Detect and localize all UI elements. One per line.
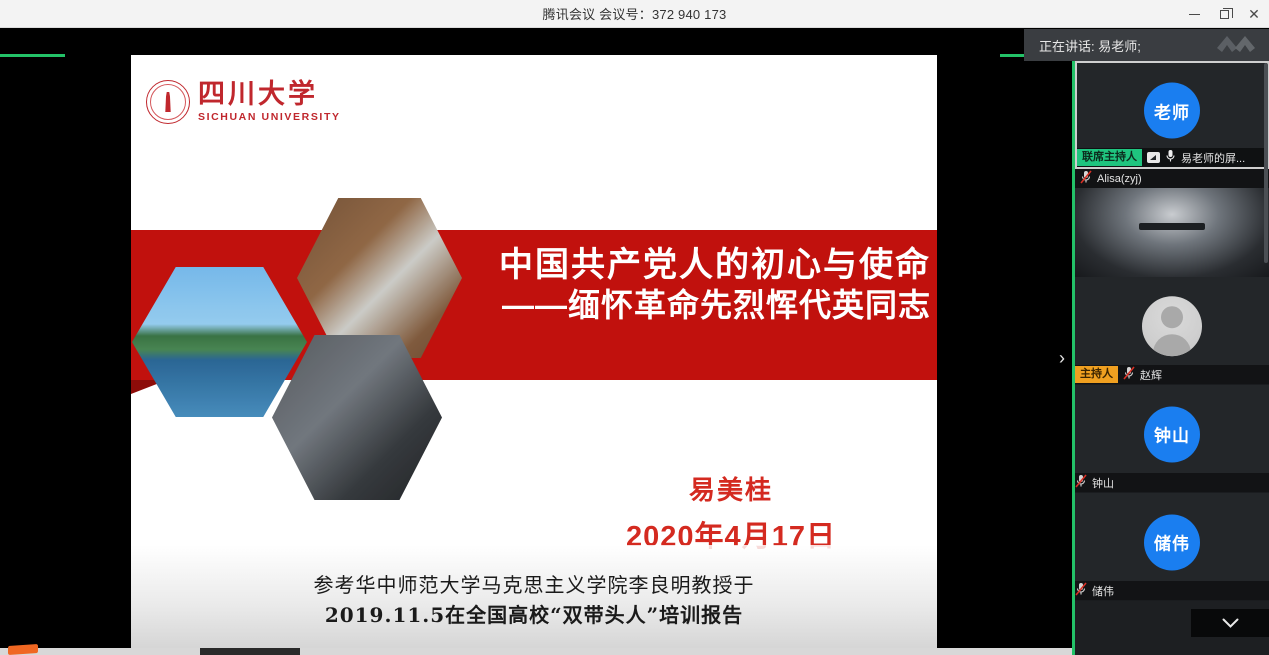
participant-footer-2: Alisa(zyj) — [1075, 169, 1269, 188]
minimize-button[interactable] — [1179, 0, 1209, 28]
participant-list[interactable]: 老师 联席主持人 易老师的屏... — [1075, 61, 1269, 655]
mic-on-icon — [1165, 149, 1176, 166]
university-name-cn: 四川大学 — [198, 81, 341, 109]
participant-name-3: 赵辉 — [1140, 367, 1162, 383]
avatar: 老师 — [1144, 83, 1200, 139]
slide-footer: 参考华中师范大学马克思主义学院李良明教授于 2019.11.5在全国高校“双带头… — [131, 570, 937, 630]
chevron-right-icon: › — [1059, 348, 1065, 369]
meeting-title: 腾讯会议 会议号：372 940 173 — [543, 4, 727, 23]
presentation-slide: 四川大学 SICHUAN UNIVERSITY 中国共产党人的初心与使命 ——缅… — [131, 55, 937, 655]
participant-rail: 老师 联席主持人 易老师的屏... — [1075, 29, 1269, 655]
avatar-body-icon — [1153, 334, 1191, 356]
scroll-down-button[interactable] — [1191, 609, 1269, 637]
cohost-badge: 联席主持人 — [1077, 149, 1142, 167]
participant-name-1: 易老师的屏... — [1181, 150, 1245, 166]
slide-title-line2: ——缅怀革命先烈恽代英同志 — [471, 286, 931, 325]
university-logo: 四川大学 SICHUAN UNIVERSITY — [146, 80, 341, 124]
participant-tile-4[interactable]: 钟山 钟山 — [1075, 385, 1269, 493]
participant-footer-5: 储伟 — [1075, 581, 1269, 600]
participant-tile-2[interactable]: Alisa(zyj) — [1075, 169, 1269, 277]
participant-footer-3: 主持人 赵辉 — [1075, 365, 1269, 384]
participant-tile-5[interactable]: 储伟 储伟 — [1075, 493, 1269, 601]
close-button[interactable]: ✕ — [1239, 0, 1269, 28]
mic-muted-icon — [1075, 474, 1087, 491]
mic-muted-icon — [1075, 582, 1087, 599]
slide-footer-line1: 参考华中师范大学马克思主义学院李良明教授于 — [131, 570, 937, 600]
university-logo-text: 四川大学 SICHUAN UNIVERSITY — [198, 81, 341, 123]
title-bar: 腾讯会议 会议号：372 940 173 ✕ — [0, 0, 1269, 28]
chevron-down-icon — [1222, 618, 1239, 629]
avatar: 储伟 — [1144, 514, 1200, 570]
participant-tile-3[interactable]: 主持人 赵辉 — [1075, 277, 1269, 385]
maximize-button[interactable] — [1209, 0, 1239, 28]
share-border-top-left — [0, 54, 65, 57]
participant-name-4: 钟山 — [1092, 475, 1114, 491]
slide-title: 中国共产党人的初心与使命 ——缅怀革命先烈恽代英同志 — [471, 245, 931, 326]
desktop-taskbar — [0, 648, 1072, 655]
speaking-indicator: 正在讲话: 易老师; — [1024, 29, 1269, 61]
seal-tower-icon — [164, 92, 173, 112]
participant-footer-1: 联席主持人 易老师的屏... — [1077, 148, 1267, 167]
taskbar-dark-segment — [200, 648, 300, 655]
mic-muted-icon — [1080, 170, 1092, 187]
collapse-panel-button[interactable]: › — [1052, 342, 1072, 374]
participant-footer-4: 钟山 — [1075, 473, 1269, 492]
host-badge: 主持人 — [1075, 366, 1118, 384]
participant-name-2: Alisa(zyj) — [1097, 173, 1142, 185]
participant-name-5: 储伟 — [1092, 583, 1114, 599]
restore-icon — [1220, 10, 1229, 19]
slide-title-line1: 中国共产党人的初心与使命 — [471, 245, 931, 286]
meeting-window: 腾讯会议 会议号：372 940 173 ✕ 四川大学 SICHUAN UNIV — [0, 0, 1269, 655]
avatar-head-icon — [1161, 306, 1183, 328]
avatar — [1142, 296, 1202, 356]
shared-screen-stage: 四川大学 SICHUAN UNIVERSITY 中国共产党人的初心与使命 ——缅… — [0, 29, 1072, 655]
sichuan-university-seal-icon — [146, 80, 190, 124]
screen-share-icon — [1147, 152, 1160, 163]
mic-muted-icon — [1123, 366, 1135, 383]
window-controls: ✕ — [1179, 0, 1269, 28]
avatar: 钟山 — [1144, 406, 1200, 462]
slide-footer-line2: 2019.11.5在全国高校“双带头人”培训报告 — [131, 600, 937, 630]
presenter-name: 易美桂 — [531, 470, 931, 507]
minimize-icon — [1189, 14, 1200, 15]
tencent-meeting-logo-icon — [1215, 32, 1263, 58]
close-icon: ✕ — [1248, 7, 1260, 21]
speaking-text: 正在讲话: 易老师; — [1039, 36, 1141, 55]
participant-tile-1[interactable]: 老师 联席主持人 易老师的屏... — [1075, 61, 1269, 169]
slide-presenter-block: 易美桂 2020年4月17日 — [531, 470, 931, 555]
participant-scrollbar[interactable] — [1264, 63, 1268, 263]
university-name-en: SICHUAN UNIVERSITY — [198, 111, 341, 123]
